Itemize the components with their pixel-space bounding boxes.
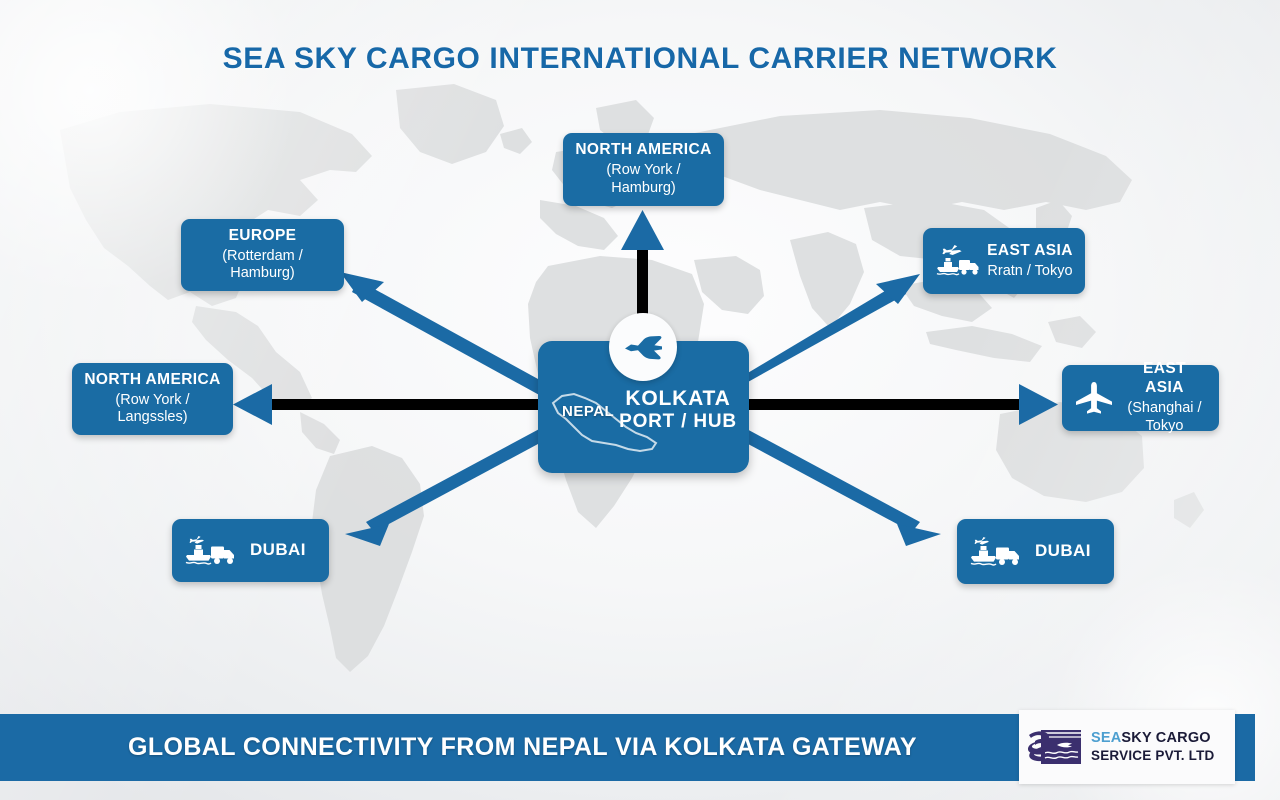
truck-icon (211, 546, 234, 564)
route-arrow-north-america-left (233, 384, 550, 425)
airplane-icon (975, 537, 990, 545)
node-label: EAST ASIA Rratn / Tokyo (987, 242, 1073, 281)
route-arrow-europe (340, 272, 558, 402)
infographic-canvas: SEA SKY CARGO INTERNATIONAL CARRIER NETW… (0, 0, 1280, 800)
ship-icon (937, 258, 959, 275)
node-east-asia-east[interactable]: EAST ASIA (Shanghai / Tokyo (1062, 365, 1219, 431)
node-label: NORTH AMERICA (Row York / Hamburg) (575, 141, 712, 197)
logo-tagline: SERVICE PVT. LTD (1091, 748, 1227, 764)
transport-icon-group (1074, 379, 1116, 417)
node-title: NORTH AMERICA (84, 371, 221, 390)
node-title: DUBAI (1035, 541, 1102, 562)
node-title: EAST ASIA (987, 242, 1073, 261)
banner-text: GLOBAL CONNECTIVITY FROM NEPAL VIA KOLKA… (128, 733, 917, 762)
truck-icon (996, 547, 1019, 565)
nepal-label: NEPAL (562, 403, 614, 420)
node-dubai-right[interactable]: DUBAI (957, 519, 1114, 584)
node-title: NORTH AMERICA (575, 141, 712, 160)
node-label: EUROPE (Rotterdam / Hamburg) (193, 227, 332, 283)
route-arrow-east-asia-ne (730, 274, 920, 392)
node-title: EAST ASIA (1122, 360, 1207, 398)
node-label: DUBAI (1029, 541, 1102, 562)
airplane-icon (942, 245, 961, 255)
hub-airplane-badge (609, 313, 677, 381)
ship-icon (971, 546, 996, 565)
node-title: DUBAI (250, 540, 317, 561)
node-dubai-left[interactable]: DUBAI (172, 519, 329, 582)
hub-subtitle: PORT / HUB (612, 411, 744, 433)
transport-icon-group (935, 241, 981, 281)
node-north-america-left[interactable]: NORTH AMERICA (Row York / Langssles) (72, 363, 233, 435)
logo-line-1: SEASKY CARGO (1091, 730, 1227, 747)
airplane-icon (621, 331, 665, 363)
hub-title: KOLKATA (612, 387, 744, 411)
transport-icon-group (184, 532, 238, 570)
node-label: DUBAI (244, 540, 317, 561)
node-europe[interactable]: EUROPE (Rotterdam / Hamburg) (181, 219, 344, 291)
hub-label: KOLKATA PORT / HUB (612, 387, 744, 433)
logo-word-skycargo: SKY CARGO (1121, 730, 1210, 746)
ship-truck-plane-icon (935, 241, 981, 281)
node-detail: Rratn / Tokyo (987, 263, 1073, 281)
seasky-wave-plane-emblem (1027, 725, 1083, 769)
node-detail: (Shanghai / Tokyo (1122, 400, 1207, 435)
route-arrow-dubai-right (722, 420, 941, 546)
route-arrow-east-asia-east (740, 384, 1058, 425)
route-arrow-dubai-left (345, 420, 564, 546)
node-detail: (Rotterdam / Hamburg) (193, 248, 332, 283)
node-title: EUROPE (193, 227, 332, 246)
truck-icon (959, 260, 979, 275)
node-label: NORTH AMERICA (Row York / Langssles) (84, 371, 221, 427)
node-north-america-top[interactable]: NORTH AMERICA (Row York / Hamburg) (563, 133, 724, 206)
logo-word-sea: SEA (1091, 730, 1121, 746)
node-detail: (Row York / Langssles) (84, 392, 221, 427)
node-detail: (Row York / Hamburg) (575, 162, 712, 197)
transport-icon-group (969, 533, 1023, 571)
ship-icon (186, 545, 211, 564)
airplane-icon (190, 536, 205, 544)
ship-truck-icon (969, 533, 1023, 571)
company-logo[interactable]: SEASKY CARGO SERVICE PVT. LTD (1019, 710, 1235, 784)
airplane-icon (1074, 379, 1116, 417)
logo-wordmark: SEASKY CARGO SERVICE PVT. LTD (1091, 730, 1227, 763)
node-east-asia-northeast[interactable]: EAST ASIA Rratn / Tokyo (923, 228, 1085, 294)
ship-truck-icon (184, 532, 238, 570)
node-label: EAST ASIA (Shanghai / Tokyo (1122, 360, 1207, 435)
